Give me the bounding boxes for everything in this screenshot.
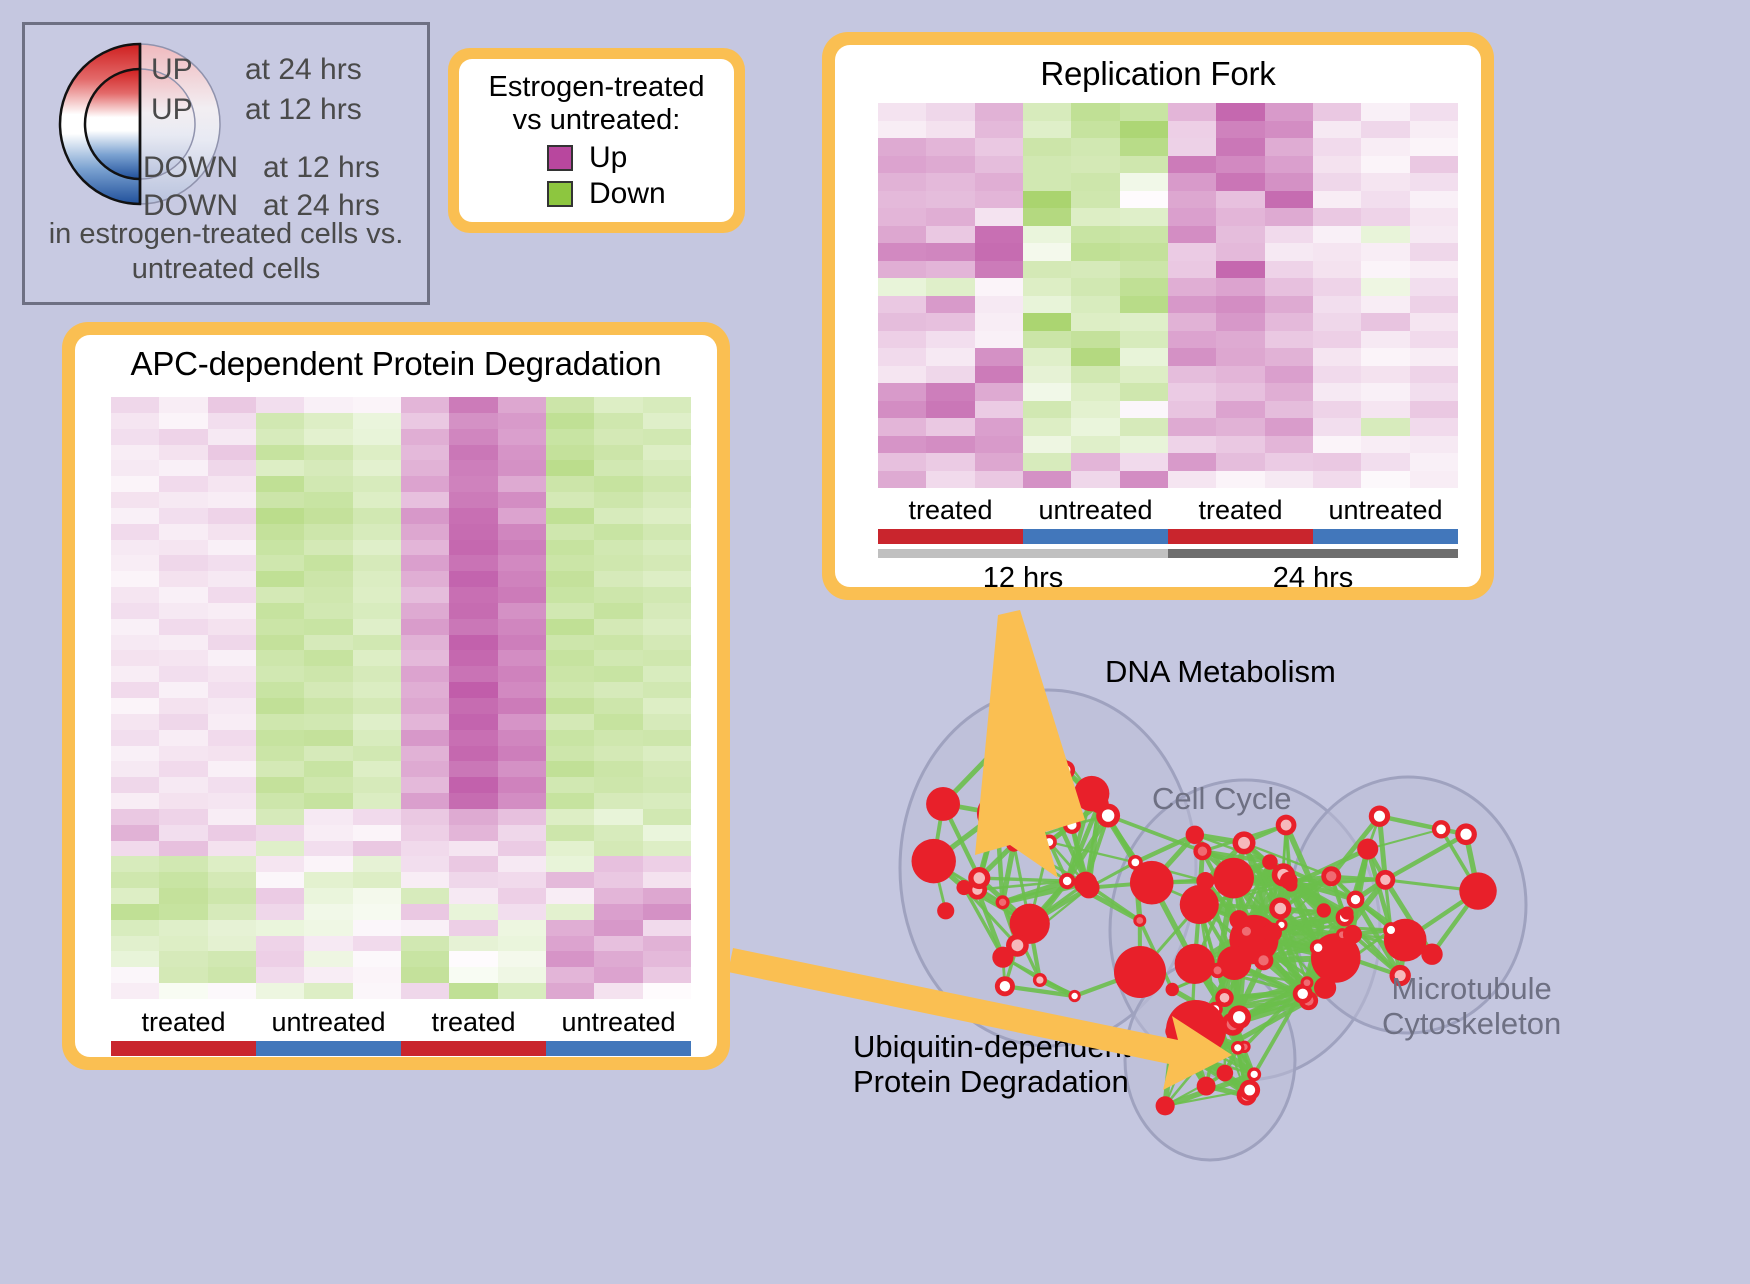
heatmap-cell bbox=[401, 951, 449, 967]
heatmap-cell bbox=[1265, 103, 1313, 121]
heatmap-cell bbox=[1361, 401, 1409, 419]
heatmap-cell bbox=[111, 524, 159, 540]
heatmap-cell bbox=[111, 445, 159, 461]
heatmap-cell bbox=[304, 445, 352, 461]
heatmap-cell bbox=[643, 936, 691, 952]
heatmap-cell bbox=[256, 619, 304, 635]
cluster-label-ubiquitin-degradation: Ubiquitin-dependent Protein Degradation bbox=[853, 1030, 1131, 1099]
network-node-core bbox=[1374, 811, 1385, 822]
heatmap-cell bbox=[594, 635, 642, 651]
heatmap-cell bbox=[498, 888, 546, 904]
legend-item-down: Down bbox=[547, 179, 720, 209]
heatmap-cell bbox=[594, 841, 642, 857]
heatmap-cell bbox=[401, 983, 449, 999]
heatmap-cell bbox=[449, 508, 497, 524]
network-node bbox=[1459, 872, 1496, 909]
heatmap-cell bbox=[1071, 296, 1119, 314]
heatmap-cell bbox=[208, 476, 256, 492]
heatmap-cell bbox=[498, 777, 546, 793]
heatmap-cell bbox=[401, 540, 449, 556]
heatmap-cell bbox=[159, 888, 207, 904]
heatmap-cell bbox=[643, 825, 691, 841]
heatmap-cell bbox=[353, 967, 401, 983]
heatmap-cell bbox=[1023, 383, 1071, 401]
heatmap-cell bbox=[401, 730, 449, 746]
time-bar-segment bbox=[1168, 549, 1458, 558]
heatmap-cell bbox=[401, 429, 449, 445]
heatmap-cell bbox=[643, 619, 691, 635]
heatmap-cell bbox=[159, 920, 207, 936]
heatmap-cell bbox=[1216, 471, 1264, 489]
heatmap-cell bbox=[1265, 436, 1313, 454]
treatment-label: treated bbox=[111, 1007, 256, 1038]
network-node bbox=[1317, 903, 1331, 917]
heatmap-cell bbox=[975, 208, 1023, 226]
heatmap-cell bbox=[304, 904, 352, 920]
treatment-bar-segment bbox=[111, 1041, 256, 1056]
network-node-core bbox=[1233, 1011, 1245, 1023]
heatmap-cell bbox=[1168, 366, 1216, 384]
heatmap-cell bbox=[594, 888, 642, 904]
network-node-core bbox=[1011, 939, 1023, 951]
heatmap-cell bbox=[878, 401, 926, 419]
heatmap-cell bbox=[1120, 471, 1168, 489]
heatmap-cell bbox=[594, 650, 642, 666]
network-node-core bbox=[1258, 955, 1268, 965]
heatmap-cell bbox=[594, 555, 642, 571]
heatmap-cell bbox=[1216, 191, 1264, 209]
heatmap-cell bbox=[111, 682, 159, 698]
updown-legend-card: Estrogen-treated vs untreated: Up Down bbox=[448, 48, 745, 233]
heatmap-cell bbox=[594, 460, 642, 476]
heatmap-cell bbox=[1313, 418, 1361, 436]
heatmap-cell bbox=[111, 555, 159, 571]
heatmap-cell bbox=[256, 904, 304, 920]
heatmap-cell bbox=[401, 746, 449, 762]
network-node bbox=[1197, 1077, 1216, 1096]
heatmap-cell bbox=[878, 261, 926, 279]
heatmap-cell bbox=[546, 856, 594, 872]
heatmap-cell bbox=[401, 635, 449, 651]
heatmap-cell bbox=[449, 730, 497, 746]
heatmap-cell bbox=[975, 366, 1023, 384]
heatmap-cell bbox=[1168, 278, 1216, 296]
heatmap-cell bbox=[926, 261, 974, 279]
heatmap-cell bbox=[111, 841, 159, 857]
heatmap-cell bbox=[975, 313, 1023, 331]
heatmap-cell bbox=[353, 888, 401, 904]
heatmap-cell bbox=[643, 540, 691, 556]
heatmap-cell bbox=[304, 603, 352, 619]
heatmap-cell bbox=[498, 666, 546, 682]
heatmap-cell bbox=[208, 555, 256, 571]
heatmap-cell bbox=[594, 413, 642, 429]
network-node-core bbox=[1314, 943, 1323, 952]
heatmap-cell bbox=[304, 698, 352, 714]
heatmap-cell bbox=[643, 856, 691, 872]
heatmap-cell bbox=[1168, 208, 1216, 226]
heatmap-cell bbox=[256, 936, 304, 952]
heatmap-cell bbox=[546, 841, 594, 857]
heatmap-cell bbox=[353, 682, 401, 698]
heatmap-cell bbox=[1216, 401, 1264, 419]
network-node bbox=[1217, 1065, 1234, 1082]
heatmap-cell bbox=[594, 698, 642, 714]
heatmap-cell bbox=[498, 920, 546, 936]
heatmap-cell bbox=[546, 698, 594, 714]
heatmap-cell bbox=[256, 841, 304, 857]
network-node-core bbox=[1043, 733, 1054, 744]
heatmap-cell bbox=[208, 666, 256, 682]
heatmap-cell bbox=[449, 746, 497, 762]
heatmap-cell bbox=[401, 587, 449, 603]
heatmap-cell bbox=[1120, 313, 1168, 331]
heatmap-cell bbox=[256, 951, 304, 967]
network-node-core bbox=[1234, 1044, 1241, 1051]
key-time-1: at 12 hrs bbox=[245, 93, 362, 127]
heatmap-cell bbox=[594, 508, 642, 524]
heatmap-cell bbox=[1410, 156, 1458, 174]
heatmap-cell bbox=[304, 540, 352, 556]
heatmap-cell bbox=[643, 666, 691, 682]
heatmap-cell bbox=[926, 436, 974, 454]
heatmap-cell bbox=[111, 571, 159, 587]
heatmap-cell bbox=[1265, 401, 1313, 419]
network-node-core bbox=[1304, 979, 1311, 986]
heatmap-cell bbox=[304, 777, 352, 793]
heatmap-cell bbox=[159, 746, 207, 762]
heatmap-cell bbox=[643, 698, 691, 714]
heatmap-cell bbox=[159, 666, 207, 682]
heatmap-cell bbox=[353, 650, 401, 666]
heatmap-cell bbox=[1168, 103, 1216, 121]
heatmap-cell bbox=[643, 730, 691, 746]
heatmap-cell bbox=[594, 730, 642, 746]
heatmap-cell bbox=[304, 524, 352, 540]
key-direction-2: DOWN bbox=[143, 151, 238, 185]
heatmap-cell bbox=[401, 841, 449, 857]
heatmap-cell bbox=[1071, 208, 1119, 226]
heatmap-cell bbox=[643, 397, 691, 413]
heatmap-cell bbox=[1120, 173, 1168, 191]
heatmap-cell bbox=[256, 809, 304, 825]
heatmap-cell bbox=[926, 401, 974, 419]
heatmap-cell bbox=[1265, 453, 1313, 471]
heatmap-cell bbox=[304, 809, 352, 825]
heatmap-cell bbox=[1265, 121, 1313, 139]
heatmap-cell bbox=[1071, 453, 1119, 471]
key-time-2: at 12 hrs bbox=[263, 151, 380, 185]
heatmap-cell bbox=[449, 460, 497, 476]
heatmap-cell bbox=[449, 555, 497, 571]
heatmap-cell bbox=[1023, 436, 1071, 454]
heatmap-cell bbox=[1361, 243, 1409, 261]
heatmap-cell bbox=[498, 967, 546, 983]
heatmap-cell bbox=[594, 666, 642, 682]
heatmap-cell bbox=[546, 730, 594, 746]
heatmap-cell bbox=[1410, 278, 1458, 296]
heatmap-cell bbox=[353, 571, 401, 587]
heatmap-cell bbox=[498, 650, 546, 666]
heatmap-cell bbox=[256, 476, 304, 492]
heatmap-cell bbox=[1265, 208, 1313, 226]
heatmap-cell bbox=[353, 872, 401, 888]
heatmap-cell bbox=[1361, 348, 1409, 366]
heatmap-cell bbox=[1023, 243, 1071, 261]
network-node-core bbox=[1220, 993, 1230, 1003]
heatmap-cell bbox=[643, 904, 691, 920]
heatmap-cell bbox=[1120, 156, 1168, 174]
heatmap-cell bbox=[498, 983, 546, 999]
heatmap-cell bbox=[304, 761, 352, 777]
heatmap-cell bbox=[256, 587, 304, 603]
heatmap-cell bbox=[926, 471, 974, 489]
heatmap-cell bbox=[304, 967, 352, 983]
time-label: 12 hrs bbox=[878, 562, 1168, 587]
network-node bbox=[956, 880, 971, 895]
key-footer-text: in estrogen-treated cells vs. untreated … bbox=[25, 217, 427, 288]
heatmap-cell bbox=[353, 587, 401, 603]
heatmap-cell bbox=[401, 872, 449, 888]
heatmap-cell bbox=[498, 603, 546, 619]
heatmap-cell bbox=[353, 666, 401, 682]
heatmap-cell bbox=[1023, 261, 1071, 279]
heatmap-cell bbox=[304, 619, 352, 635]
network-node-core bbox=[996, 737, 1008, 749]
heatmap-cell bbox=[546, 809, 594, 825]
heatmap-cell bbox=[401, 682, 449, 698]
heatmap-cell bbox=[926, 296, 974, 314]
heatmap-cell bbox=[353, 793, 401, 809]
heatmap-cell bbox=[159, 460, 207, 476]
heatmap-cell bbox=[1313, 453, 1361, 471]
heatmap-cell bbox=[449, 936, 497, 952]
heatmap-cell bbox=[208, 904, 256, 920]
heatmap-cell bbox=[304, 460, 352, 476]
heatmap-cell bbox=[304, 587, 352, 603]
heatmap-cell bbox=[111, 967, 159, 983]
heatmap-cell bbox=[643, 555, 691, 571]
heatmap-cell bbox=[159, 825, 207, 841]
heatmap-cell bbox=[159, 698, 207, 714]
heatmap-cell bbox=[594, 492, 642, 508]
heatmap-cell bbox=[1265, 226, 1313, 244]
network-node bbox=[1006, 837, 1021, 852]
heatmap-cell bbox=[1023, 191, 1071, 209]
heatmap-cell bbox=[926, 313, 974, 331]
network-node-core bbox=[1387, 926, 1395, 934]
network-node-core bbox=[1045, 838, 1053, 846]
heatmap-cell bbox=[304, 508, 352, 524]
heatmap-cell bbox=[256, 508, 304, 524]
heatmap-cell bbox=[546, 793, 594, 809]
heatmap-cell bbox=[498, 476, 546, 492]
heatmap-cell bbox=[1071, 138, 1119, 156]
heatmap-cell bbox=[594, 619, 642, 635]
heatmap-cell bbox=[546, 872, 594, 888]
heatmap-cell bbox=[1313, 366, 1361, 384]
heatmap-replication-fork bbox=[878, 103, 1458, 488]
heatmap-cell bbox=[643, 967, 691, 983]
heatmap-cell bbox=[1313, 331, 1361, 349]
network-node-core bbox=[1063, 877, 1071, 885]
heatmap-cell bbox=[256, 920, 304, 936]
heatmap-cell bbox=[401, 397, 449, 413]
heatmap-cell bbox=[304, 492, 352, 508]
heatmap-cell bbox=[975, 156, 1023, 174]
up-color-swatch bbox=[547, 145, 573, 171]
heatmap-cell bbox=[878, 348, 926, 366]
heatmap-cell bbox=[1023, 121, 1071, 139]
heatmap-cell bbox=[111, 460, 159, 476]
heatmap-cell bbox=[1313, 121, 1361, 139]
heatmap-cell bbox=[498, 413, 546, 429]
treatment-bar-segment bbox=[401, 1041, 546, 1056]
heatmap-cell bbox=[546, 476, 594, 492]
heatmap-cell bbox=[401, 856, 449, 872]
heatmap-cell bbox=[498, 508, 546, 524]
heatmap-cell bbox=[111, 714, 159, 730]
heatmap-cell bbox=[1168, 436, 1216, 454]
network-node bbox=[1166, 1000, 1226, 1060]
heatmap-cell bbox=[1023, 348, 1071, 366]
heatmap-cell bbox=[1361, 331, 1409, 349]
heatmap-cell bbox=[449, 682, 497, 698]
heatmap-cell bbox=[975, 401, 1023, 419]
key-direction-1: UP bbox=[151, 93, 193, 127]
heatmap-cell bbox=[304, 413, 352, 429]
network-node-core bbox=[1244, 1085, 1255, 1096]
heatmap-cell bbox=[1361, 191, 1409, 209]
heatmap-cell bbox=[353, 761, 401, 777]
heatmap-cell bbox=[975, 191, 1023, 209]
heatmap-cell bbox=[111, 920, 159, 936]
cluster-label-cell-cycle: Cell Cycle bbox=[1152, 782, 1292, 817]
heatmap-cell bbox=[1216, 296, 1264, 314]
heatmap-cell bbox=[1071, 173, 1119, 191]
heatmap-cell bbox=[1120, 243, 1168, 261]
cluster-label-dna-metabolism: DNA Metabolism bbox=[1105, 655, 1336, 690]
heatmap-cell bbox=[878, 313, 926, 331]
heatmap-cell bbox=[304, 397, 352, 413]
down-color-swatch bbox=[547, 181, 573, 207]
network-node bbox=[1114, 946, 1166, 998]
heatmap-cell bbox=[159, 841, 207, 857]
heatmap-cell bbox=[401, 920, 449, 936]
heatmap-cell bbox=[546, 429, 594, 445]
heatmap-cell bbox=[1265, 191, 1313, 209]
heatmap-cell bbox=[546, 714, 594, 730]
heatmap-cell bbox=[878, 103, 926, 121]
heatmap-cell bbox=[256, 524, 304, 540]
heatmap-cell bbox=[401, 698, 449, 714]
heatmap-cell bbox=[1410, 418, 1458, 436]
heatmap-cell bbox=[1313, 313, 1361, 331]
heatmap-cell bbox=[1313, 383, 1361, 401]
heatmap-cell bbox=[401, 571, 449, 587]
heatmap-cell bbox=[1410, 453, 1458, 471]
treatment-bar-segment bbox=[878, 529, 1023, 544]
heatmap-cell bbox=[208, 571, 256, 587]
network-node-core bbox=[1071, 993, 1077, 999]
heatmap-cell bbox=[208, 761, 256, 777]
heatmap-cell bbox=[1216, 383, 1264, 401]
heatmap-cell bbox=[449, 888, 497, 904]
heatmap-cell bbox=[878, 173, 926, 191]
network-node-core bbox=[999, 899, 1006, 906]
network-graph-svg bbox=[790, 600, 1750, 1279]
heatmap-cell bbox=[546, 825, 594, 841]
network-node-core bbox=[1251, 1071, 1258, 1078]
heatmap-cell bbox=[546, 603, 594, 619]
network-node bbox=[1074, 872, 1097, 895]
network-node bbox=[1009, 774, 1030, 795]
heatmap-cell bbox=[878, 121, 926, 139]
heatmap-cell bbox=[1313, 173, 1361, 191]
heatmap-cell bbox=[1216, 121, 1264, 139]
heatmap-cell bbox=[111, 872, 159, 888]
heatmap-cell bbox=[353, 856, 401, 872]
heatmap-cell bbox=[1410, 436, 1458, 454]
heatmap-cell bbox=[926, 418, 974, 436]
heatmap-cell bbox=[353, 492, 401, 508]
heatmap-cell bbox=[208, 682, 256, 698]
heatmap-cell bbox=[498, 951, 546, 967]
heatmap-cell bbox=[159, 540, 207, 556]
heatmap-cell bbox=[1410, 191, 1458, 209]
heatmap-cell bbox=[353, 825, 401, 841]
heatmap-cell bbox=[1361, 173, 1409, 191]
heatmap-cell bbox=[449, 793, 497, 809]
heatmap-cell bbox=[1410, 226, 1458, 244]
heatmap-cell bbox=[1120, 296, 1168, 314]
heatmap-cell bbox=[878, 331, 926, 349]
heatmap-cell bbox=[1023, 173, 1071, 191]
heatmap-cell bbox=[1023, 453, 1071, 471]
heatmap-cell bbox=[1265, 173, 1313, 191]
heatmap-cell bbox=[159, 587, 207, 603]
heatmap-cell bbox=[449, 571, 497, 587]
heatmap-cell bbox=[926, 226, 974, 244]
heatmap-cell bbox=[1265, 296, 1313, 314]
heatmap-cell bbox=[159, 936, 207, 952]
heatmap-cell bbox=[1120, 366, 1168, 384]
heatmap-cell bbox=[975, 138, 1023, 156]
network-node bbox=[1280, 872, 1298, 890]
network-node bbox=[1229, 910, 1248, 929]
heatmap-cell bbox=[1265, 313, 1313, 331]
network-node bbox=[1130, 861, 1174, 905]
heatmap-cell bbox=[975, 453, 1023, 471]
heatmap-cell bbox=[926, 103, 974, 121]
heatmap-cell bbox=[304, 714, 352, 730]
heatmap-cell bbox=[1361, 156, 1409, 174]
heatmap-cell bbox=[1023, 226, 1071, 244]
heatmap-cell bbox=[111, 666, 159, 682]
heatmap-cell bbox=[111, 587, 159, 603]
heatmap-cell bbox=[1265, 331, 1313, 349]
heatmap-cell bbox=[1265, 383, 1313, 401]
heatmap-cell bbox=[1120, 418, 1168, 436]
heatmap-cell bbox=[498, 809, 546, 825]
heatmap-cell bbox=[1410, 103, 1458, 121]
heatmap-cell bbox=[353, 460, 401, 476]
heatmap-cell bbox=[594, 524, 642, 540]
heatmap-cell bbox=[449, 714, 497, 730]
heatmap-cell bbox=[449, 413, 497, 429]
heatmap-cell bbox=[449, 856, 497, 872]
heatmap-cell bbox=[643, 429, 691, 445]
